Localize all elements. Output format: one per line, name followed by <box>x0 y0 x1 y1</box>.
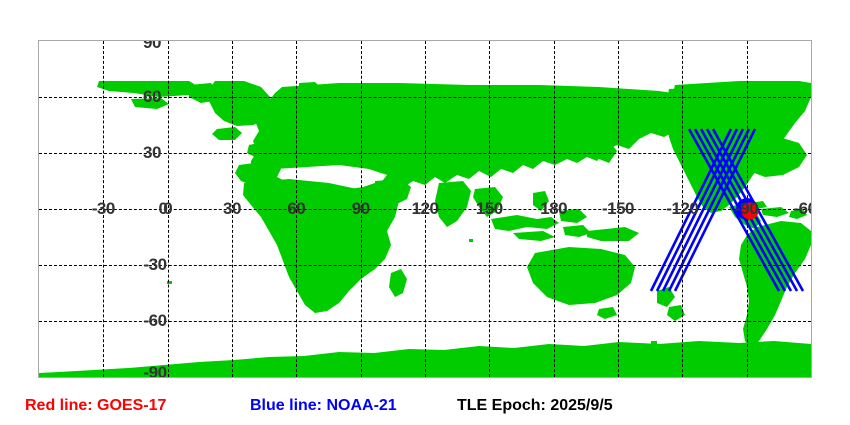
lon-tick--90: -90 <box>735 199 758 219</box>
lon-tick--120: -120 <box>666 199 698 219</box>
lon-tick--60: -60 <box>793 199 812 219</box>
lon-tick-60: 60 <box>287 199 305 219</box>
legend-blue-line-noaa21: Blue line: NOAA-21 <box>250 397 397 415</box>
lon-tick--30: -30 <box>92 199 115 219</box>
gridline-lon--60 <box>811 41 812 377</box>
lat-tick-0: 0 <box>159 199 168 219</box>
lon-tick--150: -150 <box>602 199 634 219</box>
lat-tick-90: 90 <box>143 40 161 53</box>
legend-tle-epoch: TLE Epoch: 2025/9/5 <box>457 397 613 415</box>
lat-tick--60: -60 <box>143 311 166 331</box>
legend-red-line-goes17: Red line: GOES-17 <box>25 397 166 415</box>
map-plot-area: -30 0 30 60 90 120 150 180 -150 -120 -90… <box>38 40 812 378</box>
lon-tick-120: 120 <box>412 199 439 219</box>
lon-tick-30: 30 <box>223 199 241 219</box>
lon-tick-150: 150 <box>476 199 503 219</box>
lon-tick-90: 90 <box>352 199 370 219</box>
map-legend: Red line: GOES-17 Blue line: NOAA-21 TLE… <box>0 392 850 422</box>
lat-tick--30: -30 <box>143 255 166 275</box>
lat-tick-30: 30 <box>143 143 161 163</box>
lat-tick-60: 60 <box>143 87 161 107</box>
satellite-ground-track-map: -30 0 30 60 90 120 150 180 -150 -120 -90… <box>0 0 850 425</box>
lon-tick-180: 180 <box>540 199 567 219</box>
lat-tick--90: -90 <box>143 363 166 378</box>
